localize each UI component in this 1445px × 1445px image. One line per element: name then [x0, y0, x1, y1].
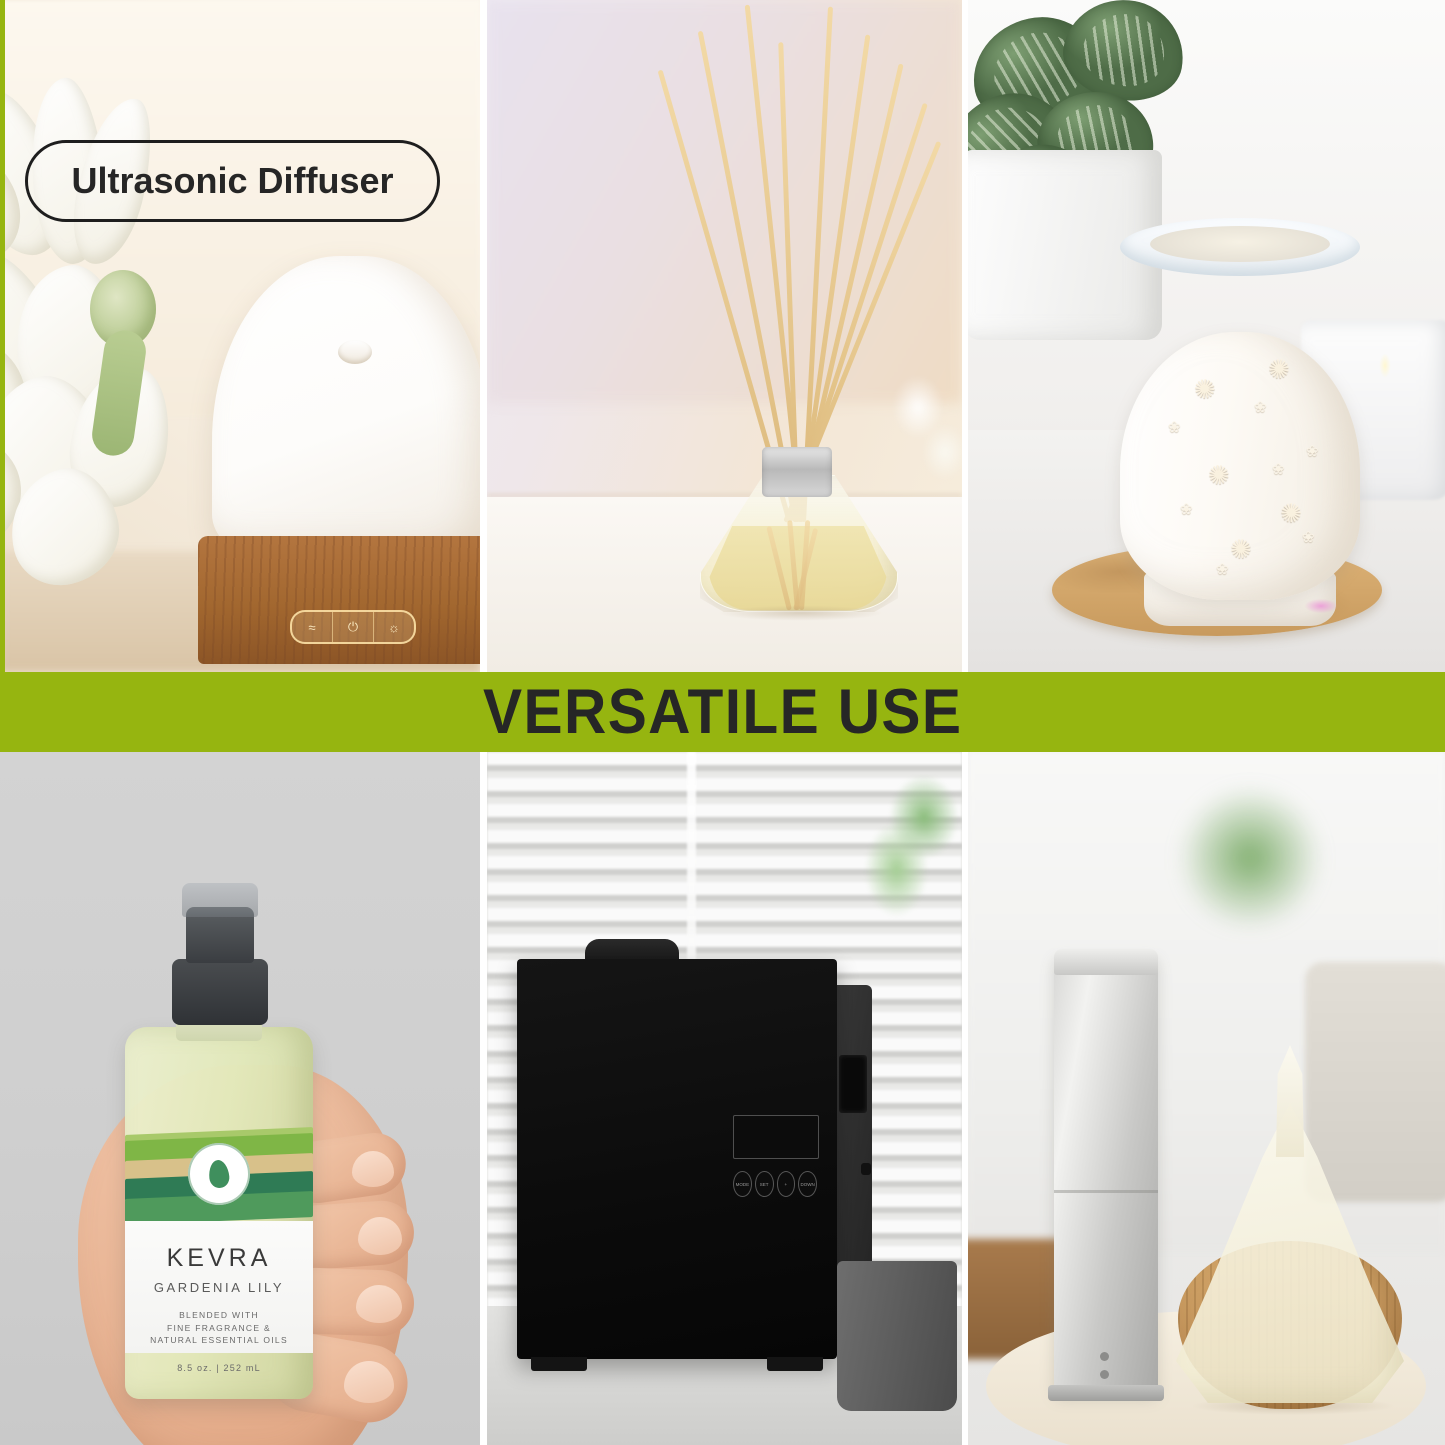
machine-display	[733, 1115, 819, 1159]
spray-cap	[182, 883, 258, 917]
diffuser-mist-outlet	[338, 340, 372, 364]
photo-waterless-nebulizer-diffuser	[968, 752, 1445, 1445]
banner-title: VERSATILE USE	[483, 681, 962, 744]
fingernail	[358, 1217, 402, 1255]
indicator-led	[1100, 1370, 1109, 1379]
panel-hvac-scent-type-system: MODE SET + DOWN HVAC Scent Type System	[487, 752, 962, 1445]
panel-reed-diffuser: Reed Diffuser	[487, 0, 962, 672]
photo-hvac-scent-type-system: MODE SET + DOWN	[487, 752, 962, 1445]
machine-feet	[531, 1357, 823, 1371]
machine-screw	[861, 1163, 871, 1175]
description-line: BLENDED WITH	[125, 1309, 313, 1322]
background-plant	[858, 772, 962, 922]
description-line: NATURAL ESSENTIAL OILS	[125, 1334, 313, 1347]
label-line: Ultrasonic Diffuser	[71, 161, 393, 201]
machine-button-down: DOWN	[798, 1171, 817, 1197]
panel-ultrasonic-diffuser: ≈ ⏻ ☼ Ultrasonic Diffuser	[0, 0, 480, 672]
product-description: BLENDED WITH FINE FRAGRANCE & NATURAL ES…	[125, 1309, 313, 1347]
photo-oil-warmer: ✺ ✺ ✺ ✺ ✺ ❀ ❀ ❀ ❀ ❀ ❀ ❀	[968, 0, 1445, 672]
reed-bottle-collar	[762, 447, 832, 497]
cylinder-nebulizer-top	[1054, 949, 1158, 975]
power-icon: ⏻	[333, 612, 374, 642]
machine-side-slot	[839, 1055, 867, 1113]
machine-button-up: +	[777, 1171, 796, 1197]
photo-reed-diffuser	[487, 0, 962, 672]
machine-button-set: SET	[755, 1171, 774, 1197]
left-accent-strip	[0, 0, 5, 672]
product-brand: KEVRA	[125, 1244, 313, 1273]
label-ultrasonic-diffuser: Ultrasonic Diffuser	[25, 140, 440, 222]
panel-waterless-nebulizer-diffuser: Waterless / Nebulizer Diffuser	[968, 752, 1445, 1445]
product-size: 8.5 oz. | 252 mL	[125, 1363, 313, 1373]
photo-ultrasonic-diffuser: ≈ ⏻ ☼	[0, 0, 480, 672]
cylinder-nebulizer-body	[1054, 953, 1158, 1393]
diffuser-control-panel: ≈ ⏻ ☼	[290, 610, 416, 644]
machine-front-panel	[517, 959, 837, 1359]
background-flower-sprig	[882, 362, 962, 512]
machine-button-mode: MODE	[733, 1171, 752, 1197]
infographic-sheet: ≈ ⏻ ☼ Ultrasonic Diffuser	[0, 0, 1445, 1445]
description-line: FINE FRAGRANCE &	[125, 1322, 313, 1335]
fingernail	[344, 1361, 394, 1403]
machine-button-row: MODE SET + DOWN	[733, 1171, 817, 1197]
indicator-led	[1100, 1352, 1109, 1361]
fingernail	[352, 1151, 394, 1187]
mist-icon: ≈	[292, 612, 333, 642]
leaf-icon	[208, 1159, 231, 1189]
versatile-use-banner: VERSATILE USE	[0, 672, 1445, 752]
brand-logo-badge	[188, 1143, 250, 1205]
candle-flame	[1377, 352, 1393, 386]
product-scent: GARDENIA LILY	[125, 1280, 313, 1295]
spray-pump-collar	[172, 959, 268, 1025]
panel-oil-warmer: ✺ ✺ ✺ ✺ ✺ ❀ ❀ ❀ ❀ ❀ ❀ ❀ Oil Warmer	[968, 0, 1445, 672]
background-greenery	[1150, 758, 1350, 958]
warmer-body: ✺ ✺ ✺ ✺ ✺ ❀ ❀ ❀ ❀ ❀ ❀ ❀	[1120, 332, 1360, 600]
cylinder-nebulizer-base	[1048, 1385, 1164, 1401]
concrete-planter	[837, 1261, 957, 1411]
warmer-led-glow	[1298, 596, 1344, 616]
photo-fine-mist-spray-bottle: KEVRA GARDENIA LILY BLENDED WITH FINE FR…	[0, 752, 480, 1445]
panel-fine-mist-spray-bottle: KEVRA GARDENIA LILY BLENDED WITH FINE FR…	[0, 752, 480, 1445]
fingernail	[356, 1285, 402, 1323]
light-icon: ☼	[374, 612, 414, 642]
